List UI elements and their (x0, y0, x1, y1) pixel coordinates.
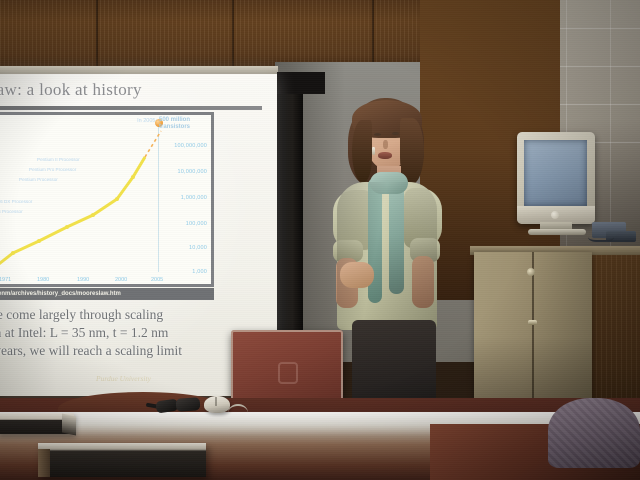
chart-annotation-0: Pentium II Processor (37, 157, 80, 162)
screen-roller-bracket (277, 72, 325, 94)
slide-title: Law: a look at history (0, 80, 216, 100)
slide-footer: Purdue University (96, 374, 151, 383)
lecture-room-photo: Law: a look at history 100,000,000 10,00… (0, 0, 640, 480)
chart-plot-area: 100,000,000 10,000,000 1,000,000 100,000… (0, 115, 211, 284)
hair-left (352, 120, 372, 182)
chart-hero-label: 500 million transistors (159, 117, 209, 131)
chart-annotation-4: 386 Processor (0, 209, 23, 214)
slide-body-line-1: ...ion at Intel: L = 35 nm, t = 1.2 nm (0, 324, 224, 342)
chart-annotation-1: Pentium Pro Processor (29, 167, 76, 172)
monitor-base (528, 229, 586, 235)
mouse-button-seam (215, 397, 217, 406)
eye-right (392, 132, 399, 135)
laptop-logo (278, 362, 298, 384)
chart-annotation-2: Pentium Processor (19, 177, 58, 182)
slide-body-text: ...ave come largely through scaling ...i… (0, 306, 224, 360)
eye-left (374, 133, 381, 136)
slide-body-line-0: ...ave come largely through scaling (0, 306, 224, 324)
slide-url-bar: ...enm/archives/history_docs/mooreslaw.h… (0, 288, 214, 300)
chair-fabric (548, 398, 640, 468)
power-button-icon[interactable] (551, 211, 559, 219)
book-lower (38, 443, 206, 477)
slide-title-rule (0, 106, 262, 110)
hands (340, 262, 374, 288)
eyeglasses-lens-right (176, 397, 201, 412)
mouth (378, 152, 392, 159)
screen-roller-housing (277, 72, 303, 342)
cable (588, 232, 614, 242)
blouse-shading (337, 182, 437, 330)
book-lower-spine (38, 449, 50, 477)
slide-body-line-2: ...0 years, we will reach a scaling limi… (0, 342, 224, 360)
book-upper-edge (62, 414, 76, 436)
moores-law-chart: 100,000,000 10,000,000 1,000,000 100,000… (0, 112, 214, 287)
computer-mouse[interactable] (204, 396, 230, 413)
monitor-screen (524, 140, 587, 206)
chart-annotation-3: 486 DX Processor (0, 199, 32, 204)
earring (372, 147, 375, 155)
nose (383, 140, 388, 149)
